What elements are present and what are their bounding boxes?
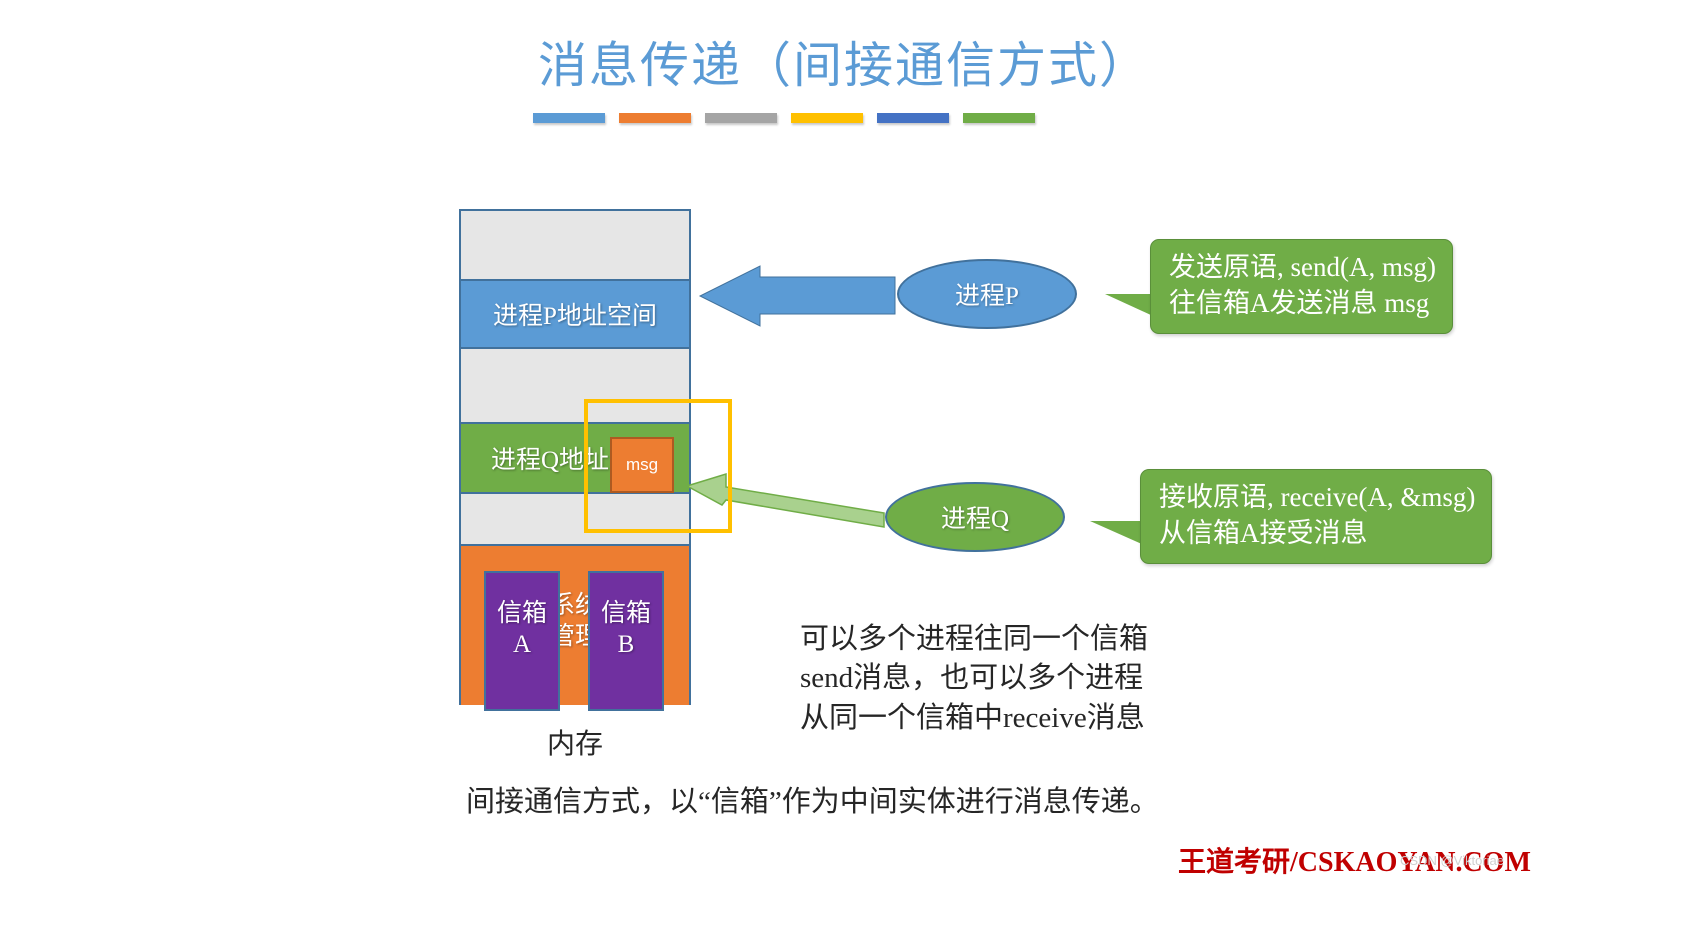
process-p-ellipse: 进程P xyxy=(897,259,1077,329)
summary-note: 间接通信方式，以“信箱”作为中间实体进行消息传递。 xyxy=(466,778,1159,820)
accent-bar-3 xyxy=(705,113,777,123)
mailbox-a: 信箱 A xyxy=(484,571,560,711)
process-q-label: 进程Q xyxy=(941,499,1009,535)
send-callout-tail xyxy=(1105,294,1153,316)
arrow-p-to-memory xyxy=(700,266,895,326)
title-accent-bars xyxy=(533,113,1035,123)
mailbox-b: 信箱 B xyxy=(588,571,664,711)
msg-block: msg xyxy=(610,437,674,493)
slide-canvas: 消息传递（间接通信方式） 进程P地址空间 进程Q地址空间 系统管理 信箱 A 信… xyxy=(0,0,1688,940)
mailbox-area-band: 系统管理 信箱 A 信箱 B xyxy=(461,544,689,705)
page-title: 消息传递（间接通信方式） xyxy=(0,26,1688,97)
multi-process-note-line2: send消息，也可以多个进程 xyxy=(800,659,1148,698)
send-callout-line1: 发送原语, send(A, msg) xyxy=(1169,250,1436,286)
multi-process-note-line3: 从同一个信箱中receive消息 xyxy=(800,699,1148,738)
mailbox-a-line1: 信箱 xyxy=(486,599,558,630)
process-p-address-space-label: 进程P地址空间 xyxy=(493,296,657,332)
mailbox-a-line2: A xyxy=(486,630,558,661)
send-primitive-callout: 发送原语, send(A, msg) 往信箱A发送消息 msg xyxy=(1150,239,1453,334)
process-q-ellipse: 进程Q xyxy=(885,482,1065,552)
multi-process-note-line1: 可以多个进程往同一个信箱 xyxy=(800,620,1148,659)
accent-bar-1 xyxy=(533,113,605,123)
multi-process-note: 可以多个进程往同一个信箱 send消息，也可以多个进程 从同一个信箱中recei… xyxy=(800,620,1148,738)
process-p-label: 进程P xyxy=(955,276,1019,312)
accent-bar-6 xyxy=(963,113,1035,123)
mailbox-b-line1: 信箱 xyxy=(590,599,662,630)
receive-callout-tail xyxy=(1090,521,1144,545)
accent-bar-4 xyxy=(791,113,863,123)
receive-primitive-callout: 接收原语, receive(A, &msg) 从信箱A接受消息 xyxy=(1140,469,1492,564)
receive-callout-line1: 接收原语, receive(A, &msg) xyxy=(1159,480,1475,516)
send-callout-line2: 往信箱A发送消息 msg xyxy=(1169,286,1436,322)
mailbox-b-line2: B xyxy=(590,630,662,661)
accent-bar-5 xyxy=(877,113,949,123)
accent-bar-2 xyxy=(619,113,691,123)
receive-callout-line2: 从信箱A接受消息 xyxy=(1159,516,1475,552)
watermark-faint: CSDN @Viktoriae xyxy=(1400,853,1504,868)
memory-caption: 内存 xyxy=(459,722,691,762)
process-p-address-space-band: 进程P地址空间 xyxy=(461,279,689,349)
